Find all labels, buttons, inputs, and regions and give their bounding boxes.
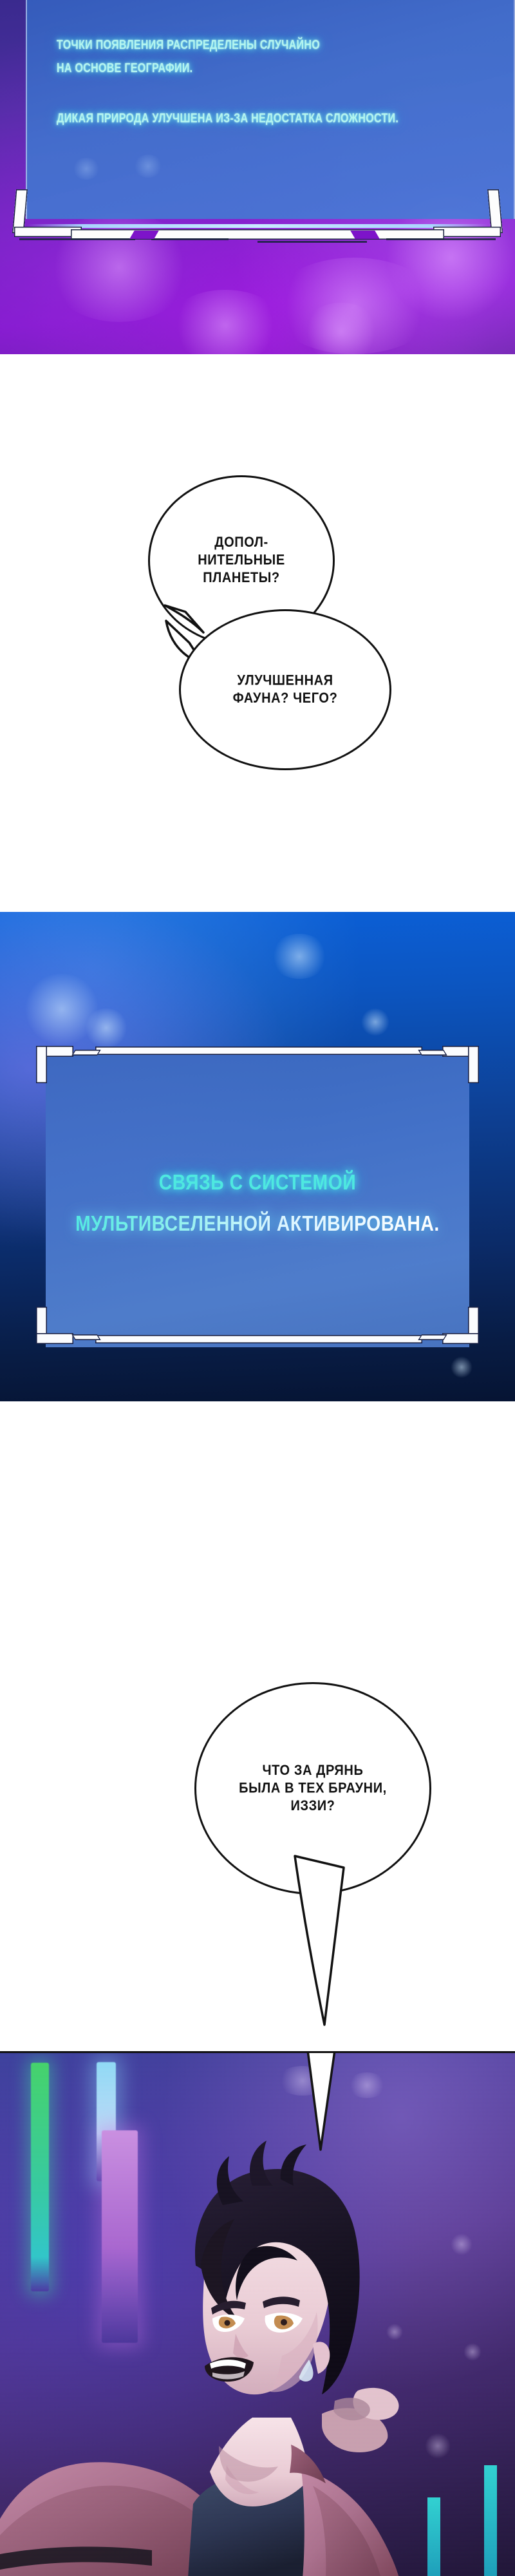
speech-bubble-text: УЛУЧШЕННАЯ ФАУНА? ЧЕГО? bbox=[233, 672, 338, 708]
speech-tail-icon bbox=[291, 1852, 362, 2065]
system-hud-screen-1: ТОЧКИ ПОЯВЛЕНИЯ РАСПРЕДЕЛЕНЫ СЛУЧАЙНО НА… bbox=[26, 0, 515, 219]
system-line-1: СВЯЗЬ С СИСТЕМОЙ bbox=[67, 1162, 448, 1203]
system-message-1: ТОЧКИ ПОЯВЛЕНИЯ РАСПРЕДЕЛЕНЫ СЛУЧАЙНО НА… bbox=[57, 33, 407, 130]
speech-tail-icon bbox=[164, 603, 215, 648]
panel-system-window-multiverse: СВЯЗЬ С СИСТЕМОЙ МУЛЬТИВСЕЛЕННОЙ АКТИВИР… bbox=[0, 912, 515, 1401]
webtoon-page: ТОЧКИ ПОЯВЛЕНИЯ РАСПРЕДЕЛЕНЫ СЛУЧАЙНО НА… bbox=[0, 0, 515, 2576]
gutter-white-2: ЧТО ЗА ДРЯНЬ БЫЛА В ТЕХ БРАУНИ, ИЗЗИ? bbox=[0, 1401, 515, 2051]
panel-system-window-spawn-points: ТОЧКИ ПОЯВЛЕНИЯ РАСПРЕДЕЛЕНЫ СЛУЧАЙНО НА… bbox=[0, 0, 515, 354]
system-line-2: НА ОСНОВЕ ГЕОГРАФИИ. bbox=[57, 61, 192, 75]
panel-character-scene bbox=[0, 2051, 515, 2576]
character-illustration bbox=[0, 2053, 515, 2576]
system-hud-screen-2: СВЯЗЬ С СИСТЕМОЙ МУЛЬТИВСЕЛЕННОЙ АКТИВИР… bbox=[36, 1046, 479, 1355]
hud-bracket-frame-icon bbox=[0, 187, 515, 246]
system-line-1: ТОЧКИ ПОЯВЛЕНИЯ РАСПРЕДЕЛЕНЫ СЛУЧАЙНО bbox=[57, 38, 320, 52]
system-line-2: МУЛЬТИВСЕЛЕННОЙ АКТИВИРОВАНА. bbox=[67, 1203, 448, 1244]
speech-bubble-text: ДОПОЛ- НИТЕЛЬНЫЕ ПЛАНЕТЫ? bbox=[198, 535, 285, 587]
system-message-2: СВЯЗЬ С СИСТЕМОЙ МУЛЬТИВСЕЛЕННОЙ АКТИВИР… bbox=[67, 1162, 448, 1244]
system-line-3: ДИКАЯ ПРИРОДА УЛУЧШЕНА ИЗ-ЗА НЕДОСТАТКА … bbox=[57, 107, 407, 130]
speech-bubble-text: ЧТО ЗА ДРЯНЬ БЫЛА В ТЕХ БРАУНИ, ИЗЗИ? bbox=[239, 1762, 387, 1815]
gutter-white-1: ДОПОЛ- НИТЕЛЬНЫЕ ПЛАНЕТЫ? УЛУЧШЕННАЯ ФАУ… bbox=[0, 354, 515, 912]
